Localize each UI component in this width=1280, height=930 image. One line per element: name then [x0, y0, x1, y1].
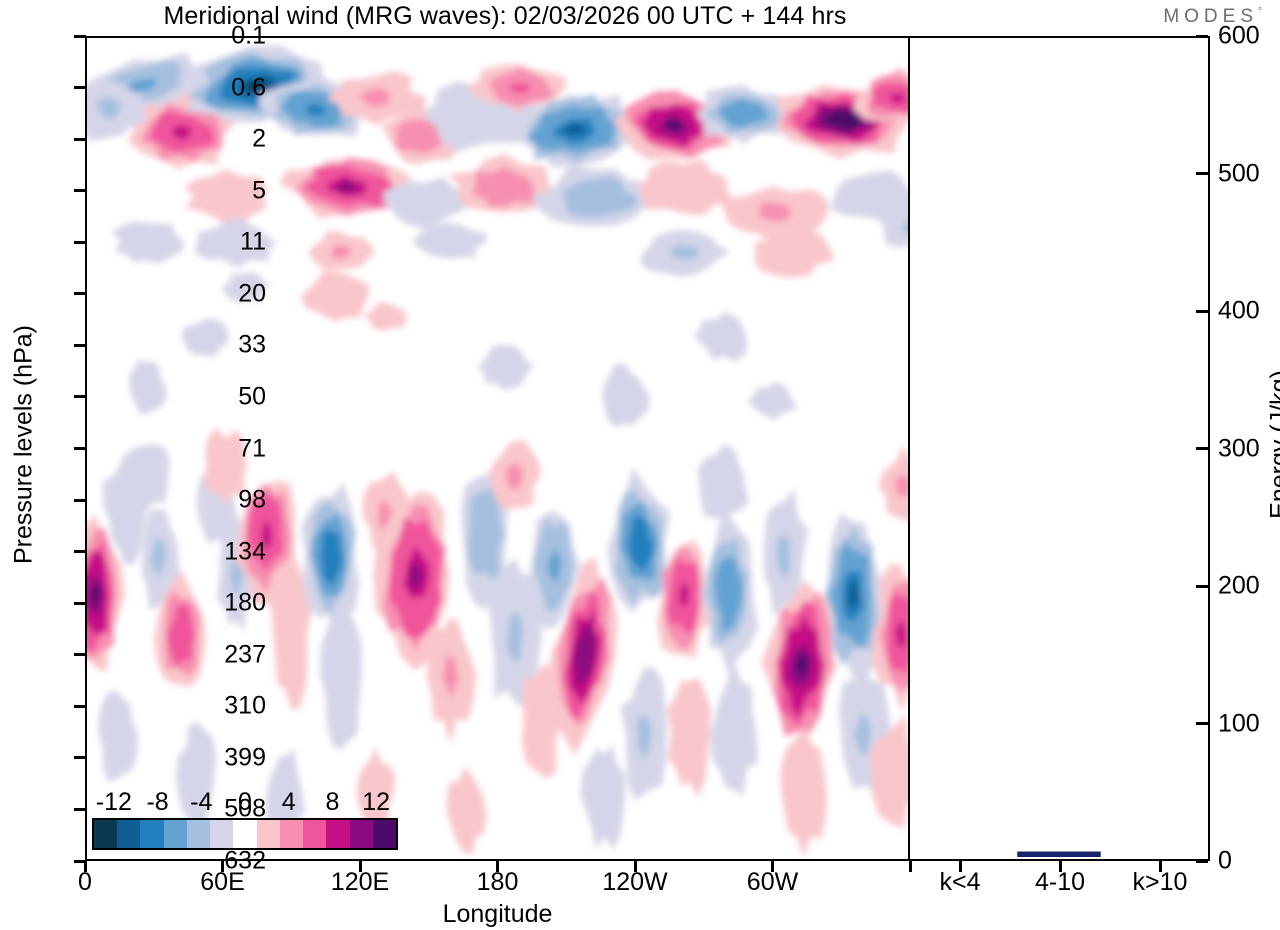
colorbar-swatch — [140, 820, 163, 848]
y-axis-tick-mark — [74, 241, 86, 244]
page-title: Meridional wind (MRG waves): 02/03/2026 … — [0, 2, 1010, 31]
y-axis-tick-mark — [74, 808, 86, 811]
colorbar — [92, 818, 398, 850]
y2-axis-tick-mark — [1196, 722, 1208, 725]
energy-category-label: 4-10 — [1035, 868, 1085, 897]
x-axis-tick-label: 60E — [200, 868, 244, 897]
colorbar-swatch — [164, 820, 187, 848]
colorbar-tick-label: 4 — [282, 788, 296, 817]
colorbar-swatch — [117, 820, 140, 848]
y-axis-tick-mark — [74, 292, 86, 295]
colorbar-tick-label: -8 — [146, 788, 168, 817]
x-axis-tick-mark — [84, 861, 87, 872]
y-axis-tick-mark — [74, 395, 86, 398]
y-axis-tick-mark — [74, 653, 86, 656]
y-axis-tick-mark — [74, 35, 86, 38]
colorbar-swatch — [303, 820, 326, 848]
x-axis-tick-label: 180 — [477, 868, 519, 897]
y-axis-tick-mark — [74, 602, 86, 605]
colorbar-tick-label: 8 — [325, 788, 339, 817]
y2-axis-tick-label: 200 — [1218, 572, 1260, 601]
y-axis-tick-label: 180 — [224, 589, 266, 618]
colorbar-tick-label: -12 — [96, 788, 132, 817]
x-axis-tick-label: 60W — [747, 868, 798, 897]
x-axis-tick-label: 0 — [78, 868, 92, 897]
y2-axis-label: Energy (J/kg) — [1266, 235, 1280, 655]
y-axis-tick-mark — [74, 189, 86, 192]
y-axis-tick-label: 0.6 — [231, 73, 266, 102]
energy-category-label: k>10 — [1133, 868, 1188, 897]
energy-bar — [1017, 852, 1100, 857]
y-axis-tick-mark — [74, 138, 86, 141]
colorbar-swatch — [326, 820, 349, 848]
colorbar-swatch — [94, 820, 117, 848]
x-axis-tick-mark — [771, 861, 774, 872]
colorbar-tick-label: -4 — [190, 788, 212, 817]
y-axis-tick-mark — [74, 344, 86, 347]
y-axis-tick-label: 33 — [238, 331, 266, 360]
y-axis-tick-label: 2 — [252, 125, 266, 154]
y2-axis-tick-mark — [1196, 860, 1208, 863]
x-axis-tick-label: 120E — [331, 868, 389, 897]
energy-category-label: k<4 — [939, 868, 980, 897]
colorbar-swatch — [280, 820, 303, 848]
y-axis-tick-label: 20 — [238, 279, 266, 308]
colorbar-tick-label: 12 — [362, 788, 390, 817]
y-axis-tick-mark — [74, 447, 86, 450]
contour-plot-panel[interactable] — [85, 36, 910, 861]
y-axis-tick-label: 98 — [238, 486, 266, 515]
colorbar-swatch — [210, 820, 233, 848]
y-axis-tick-mark — [74, 499, 86, 502]
y-axis-tick-label: 50 — [238, 382, 266, 411]
x-axis-tick-mark — [909, 861, 912, 872]
y-axis-tick-label: 134 — [224, 537, 266, 566]
colorbar-swatch — [187, 820, 210, 848]
x-axis-tick-mark — [496, 861, 499, 872]
y-axis-tick-label: 0.1 — [231, 22, 266, 51]
colorbar-swatch — [233, 820, 256, 848]
colorbar-tick-label: 0 — [238, 788, 252, 817]
y2-axis-tick-mark — [1196, 447, 1208, 450]
x-axis-tick-label: 120W — [602, 868, 667, 897]
y2-axis-tick-label: 0 — [1218, 847, 1232, 876]
contour-field — [87, 38, 908, 859]
contour-field-svg — [87, 38, 908, 859]
energy-bar-panel[interactable] — [910, 36, 1210, 861]
y2-axis-tick-label: 500 — [1218, 159, 1260, 188]
y-axis-tick-mark — [74, 756, 86, 759]
y2-axis-tick-label: 300 — [1218, 434, 1260, 463]
colorbar-labels: -12-8-404812 — [92, 788, 398, 814]
y-axis-label: Pressure levels (hPa) — [10, 235, 39, 655]
y2-axis-tick-mark — [1196, 310, 1208, 313]
x-axis-tick-mark — [221, 861, 224, 872]
y-axis-tick-label: 5 — [252, 176, 266, 205]
y-axis-tick-label: 310 — [224, 692, 266, 721]
y2-axis-tick-mark — [1196, 585, 1208, 588]
x-axis-tick-mark — [359, 861, 362, 872]
y-axis-tick-label: 71 — [238, 434, 266, 463]
y-axis-tick-label: 11 — [240, 228, 266, 257]
energy-bar-svg — [910, 38, 1208, 859]
y2-axis-tick-label: 100 — [1218, 709, 1260, 738]
brand-mark: ° — [1258, 7, 1262, 18]
x-axis-tick-mark — [634, 861, 637, 872]
colorbar-swatch — [257, 820, 280, 848]
y-axis-tick-mark — [74, 550, 86, 553]
colorbar-swatch — [350, 820, 373, 848]
y2-axis-tick-label: 600 — [1218, 22, 1260, 51]
y2-axis-tick-mark — [1196, 35, 1208, 38]
y2-axis-tick-label: 400 — [1218, 297, 1260, 326]
y-axis-tick-label: 399 — [224, 743, 266, 772]
y-axis-tick-mark — [74, 86, 86, 89]
colorbar-swatch — [373, 820, 396, 848]
y-axis-tick-mark — [74, 705, 86, 708]
y2-axis-tick-mark — [1196, 172, 1208, 175]
y-axis-tick-label: 237 — [224, 640, 266, 669]
x-axis-label: Longitude — [85, 900, 910, 929]
